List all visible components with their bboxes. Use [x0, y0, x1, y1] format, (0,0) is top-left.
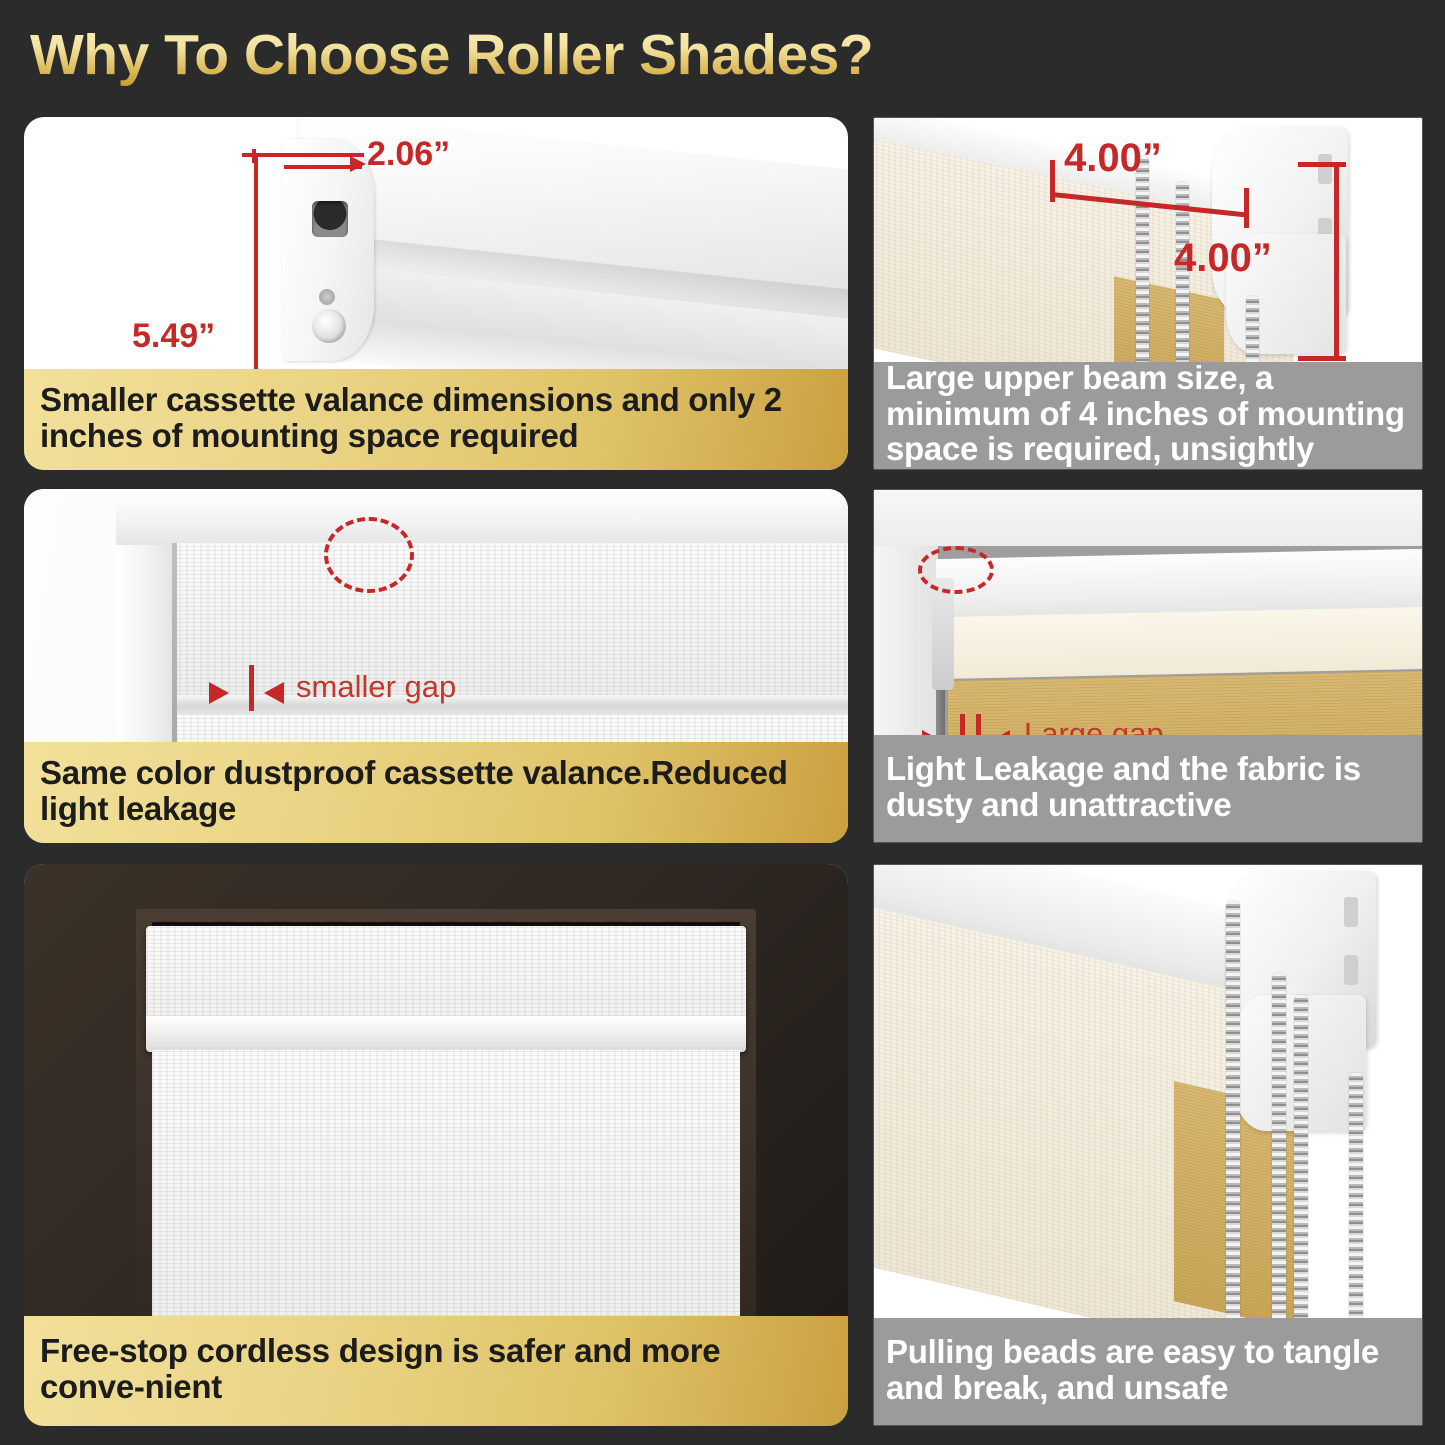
- caption-bar-free-stop-cordless: Free-stop cordless design is safer and m…: [24, 1316, 848, 1426]
- beam-height-tick-top: [1298, 162, 1346, 167]
- bead-chain-a: [1226, 901, 1240, 1331]
- smaller-gap-arrow-left: [209, 682, 229, 704]
- bracket-slot-a: [1318, 154, 1332, 184]
- caption-text: Smaller cassette valance dimensions and …: [40, 382, 832, 453]
- height-dimension-label: 5.49”: [132, 317, 215, 356]
- panel-cassette-dimensions: 2.06” 5.49” Smaller cassette valance dim…: [24, 117, 848, 470]
- mounting-clip-shape: [932, 578, 954, 690]
- caption-bar-pulling-beads: Pulling beads are easy to tangle and bre…: [874, 1318, 1422, 1425]
- caption-text: Free-stop cordless design is safer and m…: [40, 1333, 832, 1404]
- ceiling-surface: [874, 490, 1422, 546]
- gap-highlight-ellipse: [324, 517, 414, 593]
- valance-face-shape: [942, 607, 1422, 679]
- beam-width-tick-left: [1050, 160, 1055, 202]
- caption-text: Light Leakage and the fabric is dusty an…: [886, 751, 1410, 822]
- beam-height-dim-line: [1334, 162, 1339, 360]
- cassette-slot-shape: [312, 201, 348, 237]
- bracket-slot-b: [1344, 955, 1358, 985]
- bead-chain-d: [1349, 1073, 1363, 1331]
- beam-width-dimension-label: 4.00”: [1064, 136, 1162, 181]
- bead-chain-b: [1272, 973, 1286, 1331]
- window-frame-top: [116, 489, 848, 545]
- panel-free-stop-cordless: Free-stop cordless design is safer and m…: [24, 864, 848, 1426]
- shade-fabric-panel: [152, 1050, 740, 1356]
- caption-text: Pulling beads are easy to tangle and bre…: [886, 1334, 1410, 1405]
- caption-bar-cassette-dimensions: Smaller cassette valance dimensions and …: [24, 369, 848, 470]
- caption-text: Same color dustproof cassette valance.Re…: [40, 755, 832, 826]
- bracket-slot-a: [1344, 897, 1358, 927]
- panel-light-leakage: Large gap Light Leakage and the fabric i…: [873, 489, 1423, 843]
- cassette-valance-face: [172, 543, 848, 703]
- width-dim-arrow-right: [350, 156, 366, 172]
- smaller-gap-marker: [249, 665, 254, 711]
- width-dimension-label: 2.06”: [367, 135, 450, 174]
- height-dim-tick-top: [242, 153, 270, 157]
- caption-bar-dustproof-valance: Same color dustproof cassette valance.Re…: [24, 742, 848, 843]
- cassette-screw-shape: [319, 289, 335, 305]
- cassette-valance-lip: [146, 1016, 746, 1052]
- caption-bar-large-upper-beam: Large upper beam size, a minimum of 4 in…: [874, 362, 1422, 469]
- panel-pulling-beads: Pulling beads are easy to tangle and bre…: [873, 864, 1423, 1426]
- cassette-knob-shape: [312, 309, 346, 343]
- beam-height-dimension-label: 4.00”: [1174, 236, 1272, 281]
- smaller-gap-label: smaller gap: [296, 669, 456, 705]
- beam-width-tick-right: [1244, 188, 1249, 228]
- bead-chain-c: [1294, 995, 1308, 1331]
- smaller-gap-arrow-right: [264, 682, 284, 704]
- caption-bar-light-leakage: Light Leakage and the fabric is dusty an…: [874, 735, 1422, 842]
- caption-text: Large upper beam size, a minimum of 4 in…: [886, 360, 1410, 467]
- panel-dustproof-cassette-valance: smaller gap Same color dustproof cassett…: [24, 489, 848, 843]
- gap-highlight-ellipse: [918, 546, 994, 594]
- comparison-grid: 2.06” 5.49” Smaller cassette valance dim…: [0, 0, 1445, 1445]
- panel-large-upper-beam: 4.00” 4.00” Large upper beam size, a min…: [873, 117, 1423, 470]
